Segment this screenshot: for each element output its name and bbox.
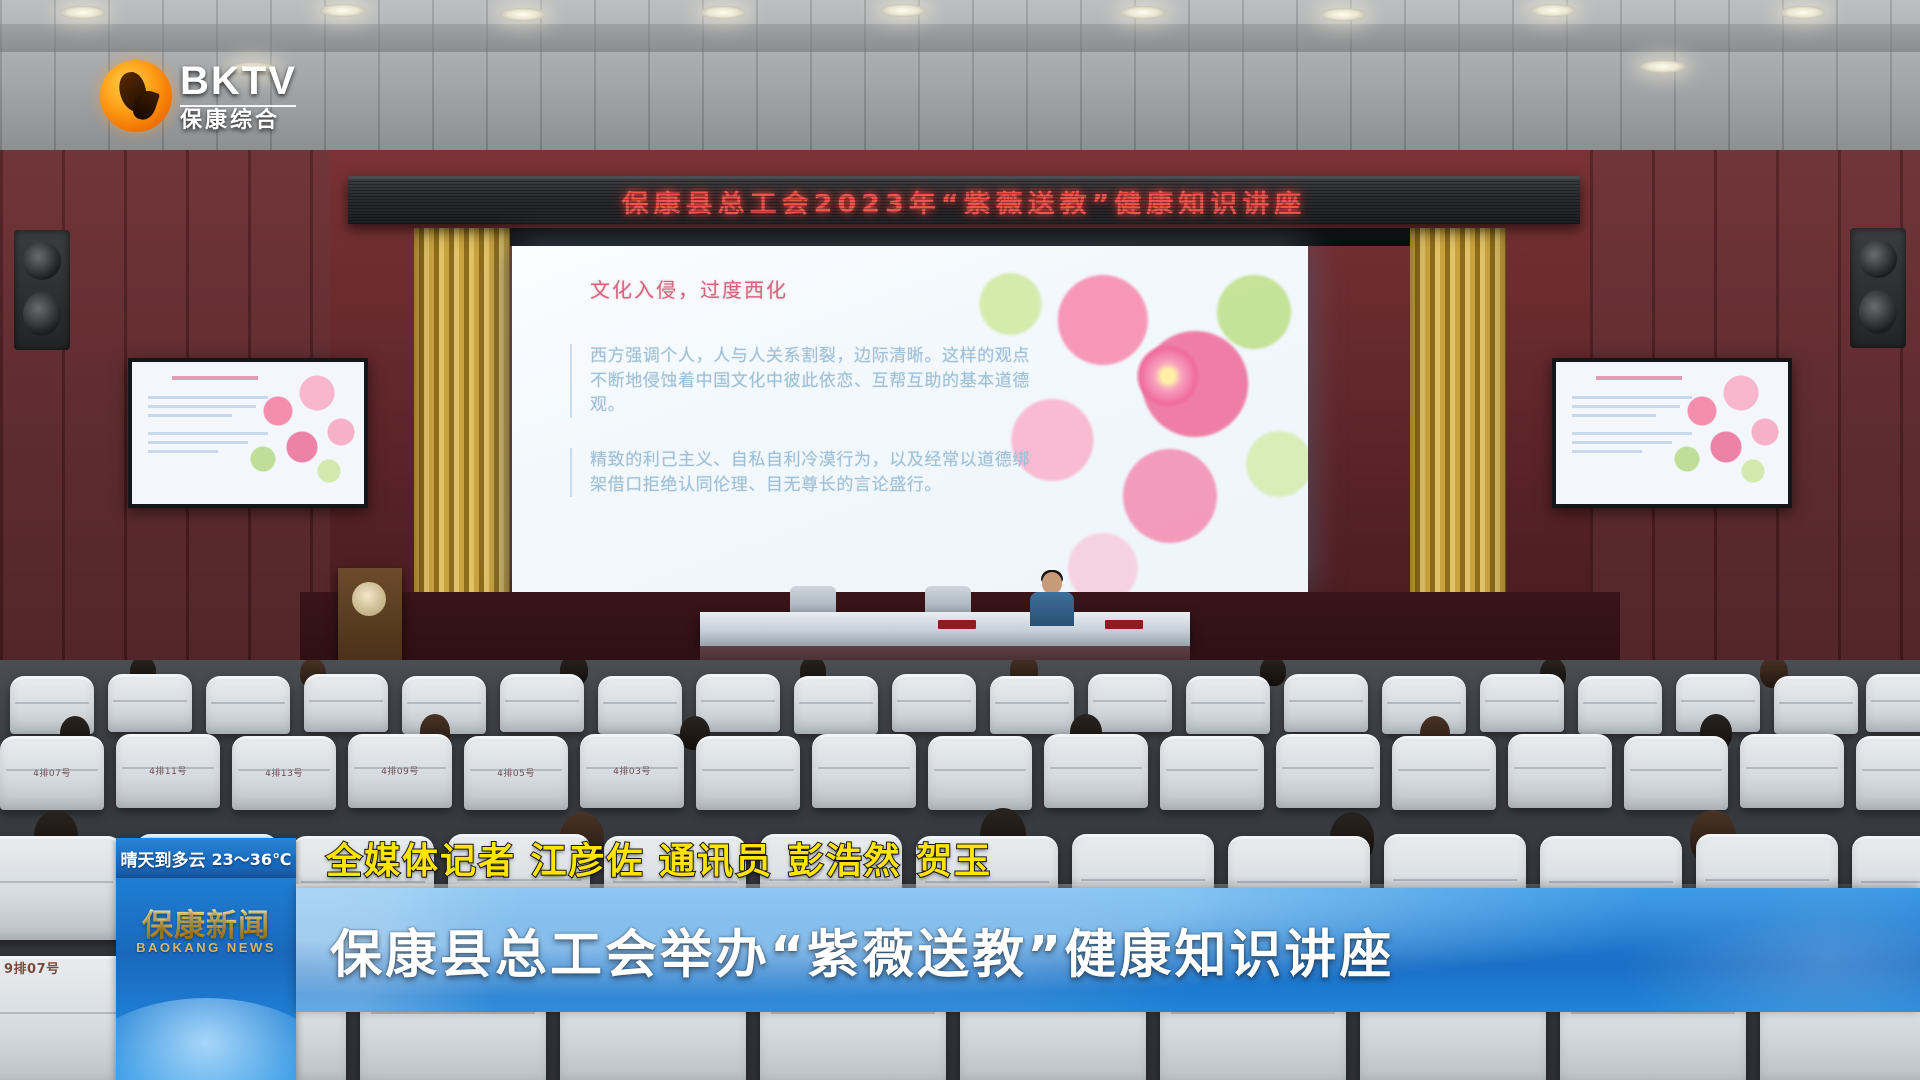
slide-title: 文化入侵，过度西化 [590, 274, 788, 303]
name-placard [938, 620, 976, 629]
torso [1030, 592, 1074, 626]
headline-bar: 保康县总工会举办“紫薇送教”健康知识讲座 [296, 888, 1920, 1012]
slide-title-mini [172, 376, 258, 380]
ceiling-band [0, 24, 1920, 52]
station-badge: 保康新闻 BAOKANG NEWS [116, 878, 296, 1080]
seat [1088, 674, 1172, 732]
seat-label: 4排07号 [0, 766, 104, 779]
downlight-icon [1640, 60, 1686, 73]
wall-speaker [14, 230, 70, 350]
channel-logo-text: BKTV 保康综合 [180, 61, 297, 132]
downlight-icon [1120, 6, 1166, 19]
side-display-left [128, 358, 368, 508]
emblem-icon [352, 582, 386, 616]
seat [1866, 674, 1920, 732]
seat [1480, 674, 1564, 732]
seat-label: 4排03号 [580, 764, 684, 777]
reporter-credit-text: 全媒体记者 江彦佐 通讯员 彭浩然 贺玉 [326, 832, 992, 884]
seat [0, 836, 122, 940]
seat-label-left: 9排07号 [4, 958, 60, 977]
weather-temperature: 23～36℃ [212, 846, 292, 870]
flower-center-icon [1136, 344, 1200, 408]
seat [1276, 734, 1380, 808]
slide-paragraph: 西方强调个人，人与人关系割裂，边际清晰。这样的观点不断地侵蚀着中国文化中彼此依恋… [570, 344, 1040, 418]
slide-body: 西方强调个人，人与人关系割裂，边际清晰。这样的观点不断地侵蚀着中国文化中彼此依恋… [570, 344, 1040, 527]
logo-divider [180, 105, 296, 107]
seat [1044, 734, 1148, 808]
led-banner: 保康县总工会2023年“紫薇送教”健康知识讲座 [348, 176, 1580, 224]
side-display-right [1552, 358, 1792, 508]
seat: 4排13号 [232, 736, 336, 810]
seat [794, 676, 878, 734]
downlight-icon [880, 4, 926, 17]
lectern [338, 568, 402, 662]
seat-label: 4排13号 [232, 766, 336, 779]
slide-paragraph: 精致的利己主义、自私自利冷漠行为，以及经常以道德绑架借口拒绝认同伦理、目无尊长的… [570, 448, 1040, 497]
seat [598, 676, 682, 734]
seat [990, 676, 1074, 734]
seat [1160, 736, 1264, 810]
downlight-icon [1530, 4, 1576, 17]
seat-label: 4排11号 [116, 764, 220, 777]
seat [206, 676, 290, 734]
seat: 4排11号 [116, 734, 220, 808]
downlight-icon [1780, 6, 1826, 19]
stage-curtain-left [414, 228, 510, 628]
seat: 4排03号 [580, 734, 684, 808]
presenter [1030, 572, 1074, 624]
reporter-credit: 全媒体记者 江彦佐 通讯员 彭浩然 贺玉 [326, 832, 992, 884]
seat [108, 674, 192, 732]
downlight-icon [60, 6, 106, 19]
head [1042, 572, 1062, 594]
curtain-rail [414, 228, 1506, 246]
seat [1740, 734, 1844, 808]
seat [696, 736, 800, 810]
seat [1284, 674, 1368, 732]
seat [1624, 736, 1728, 810]
phoenix-bird-icon [100, 60, 172, 132]
slide-text-mini [1572, 396, 1692, 459]
seat-label: 4排05号 [464, 766, 568, 779]
weather-chip: 晴天到多云 23～36℃ [116, 838, 296, 878]
broadcast-frame: 保康县总工会2023年“紫薇送教”健康知识讲座 文化入侵，过度西化 西方强调个人… [0, 0, 1920, 1080]
seat [1856, 736, 1920, 810]
headline-text: 保康县总工会举办“紫薇送教”健康知识讲座 [330, 913, 1394, 988]
head-table [700, 612, 1190, 646]
seat [892, 674, 976, 732]
seat [1774, 676, 1858, 734]
wall-speaker [1850, 228, 1906, 348]
led-banner-text: 保康县总工会2023年“紫薇送教”健康知识讲座 [622, 184, 1307, 220]
stage-curtain-right [1410, 228, 1506, 628]
downlight-icon [320, 4, 366, 17]
station-badge-cn: 保康新闻 [116, 900, 296, 945]
weather-condition: 晴天到多云 [121, 846, 206, 871]
seat [1578, 676, 1662, 734]
slide-title-mini [1596, 376, 1682, 380]
seat-label: 4排09号 [348, 764, 452, 777]
seat: 4排05号 [464, 736, 568, 810]
name-placard [1105, 620, 1143, 629]
downlight-icon [700, 6, 746, 19]
seat [696, 674, 780, 732]
slide-text-mini [148, 396, 268, 459]
channel-logo: BKTV 保康综合 [100, 48, 280, 144]
seat [500, 674, 584, 732]
seat: 4排07号 [0, 736, 104, 810]
seat [1508, 734, 1612, 808]
seat [304, 674, 388, 732]
seat [812, 734, 916, 808]
station-badge-en: BAOKANG NEWS [116, 940, 296, 955]
seat [1392, 736, 1496, 810]
downlight-icon [500, 8, 546, 21]
seat [1186, 676, 1270, 734]
seat [928, 736, 1032, 810]
channel-callsign: BKTV [180, 61, 297, 101]
channel-subtitle: 保康综合 [180, 110, 280, 132]
projection-screen: 文化入侵，过度西化 西方强调个人，人与人关系割裂，边际清晰。这样的观点不断地侵蚀… [512, 246, 1308, 592]
downlight-icon [1320, 8, 1366, 21]
seat: 4排09号 [348, 734, 452, 808]
